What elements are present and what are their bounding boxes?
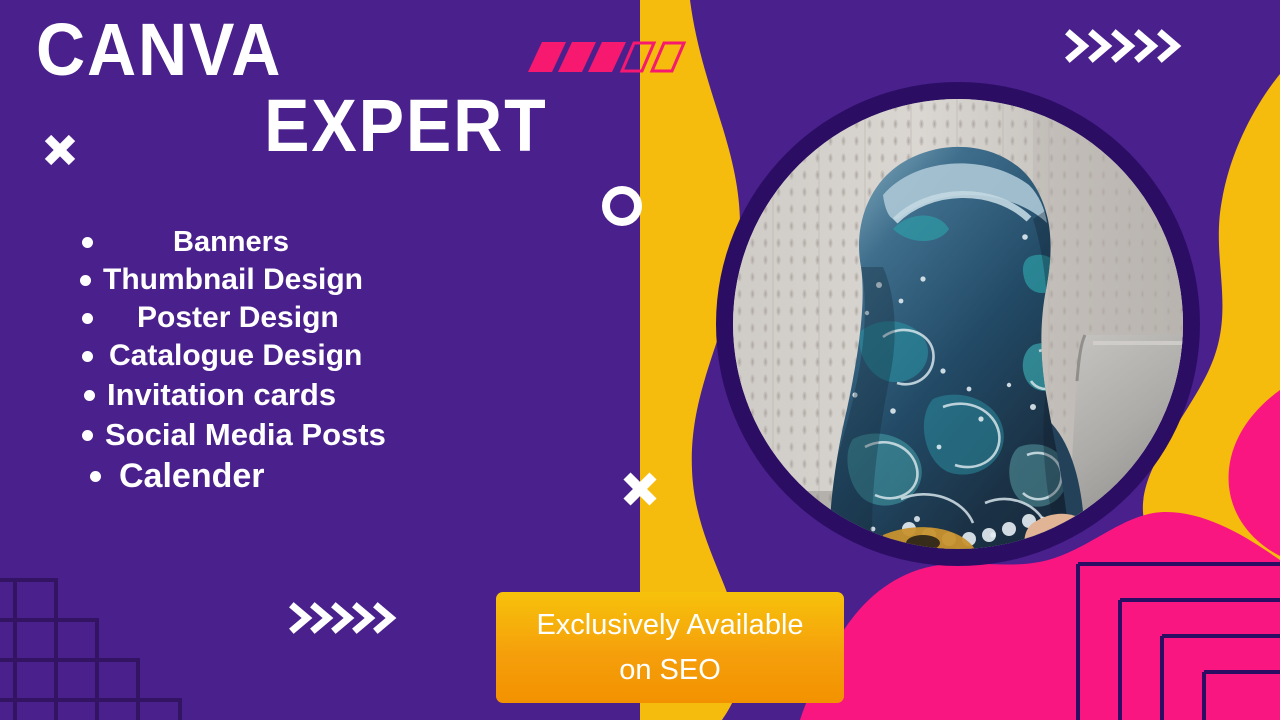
bullet-dot-icon [82, 430, 93, 441]
title-line-canva: CANVA [36, 14, 606, 87]
list-item: Invitation cards [60, 377, 480, 413]
cta-line-2: on SEO [619, 654, 721, 686]
bullet-dot-icon [82, 351, 93, 362]
service-label: Thumbnail Design [103, 263, 363, 297]
x-mark-icon-center [619, 468, 661, 510]
bullet-dot-icon [80, 275, 91, 286]
staircase-grid-decoration [0, 552, 200, 720]
service-label: Calender [119, 457, 265, 496]
list-item: Poster Design [60, 301, 480, 335]
diagonal-stripes-icon [528, 38, 686, 78]
portrait-photo [733, 99, 1183, 549]
bullet-dot-icon [90, 471, 101, 482]
bullet-dot-icon [82, 313, 93, 324]
list-item: Thumbnail Design [60, 263, 480, 297]
list-item: Calender [60, 457, 480, 496]
cta-button[interactable]: Exclusively Available on SEO [496, 592, 844, 703]
list-item: Catalogue Design [60, 339, 480, 373]
page-title: CANVA EXPERT [36, 14, 656, 164]
chevrons-right-icon-bottom [288, 596, 398, 640]
nested-squares-decoration [1064, 548, 1280, 720]
bullet-dot-icon [84, 390, 95, 401]
avatar-image-clip [733, 99, 1183, 549]
service-label: Poster Design [137, 301, 339, 335]
cta-line-1: Exclusively Available [536, 609, 803, 641]
chevrons-right-icon-top [1064, 24, 1186, 68]
x-mark-icon-left [41, 131, 79, 169]
avatar [716, 82, 1200, 566]
title-line-expert: EXPERT [36, 87, 606, 165]
service-label: Banners [173, 226, 289, 259]
service-label: Invitation cards [107, 377, 336, 413]
service-label: Social Media Posts [105, 417, 386, 453]
list-item: Social Media Posts [60, 417, 480, 453]
canva-expert-poster: CANVA EXPERT [0, 0, 1280, 720]
bullet-dot-icon [82, 237, 93, 248]
list-item: Banners [60, 226, 480, 259]
service-label: Catalogue Design [109, 339, 362, 373]
services-list: Banners Thumbnail Design Poster Design C… [60, 226, 480, 500]
laptop-shape [1070, 335, 1183, 549]
ring-circle-icon [602, 186, 642, 226]
